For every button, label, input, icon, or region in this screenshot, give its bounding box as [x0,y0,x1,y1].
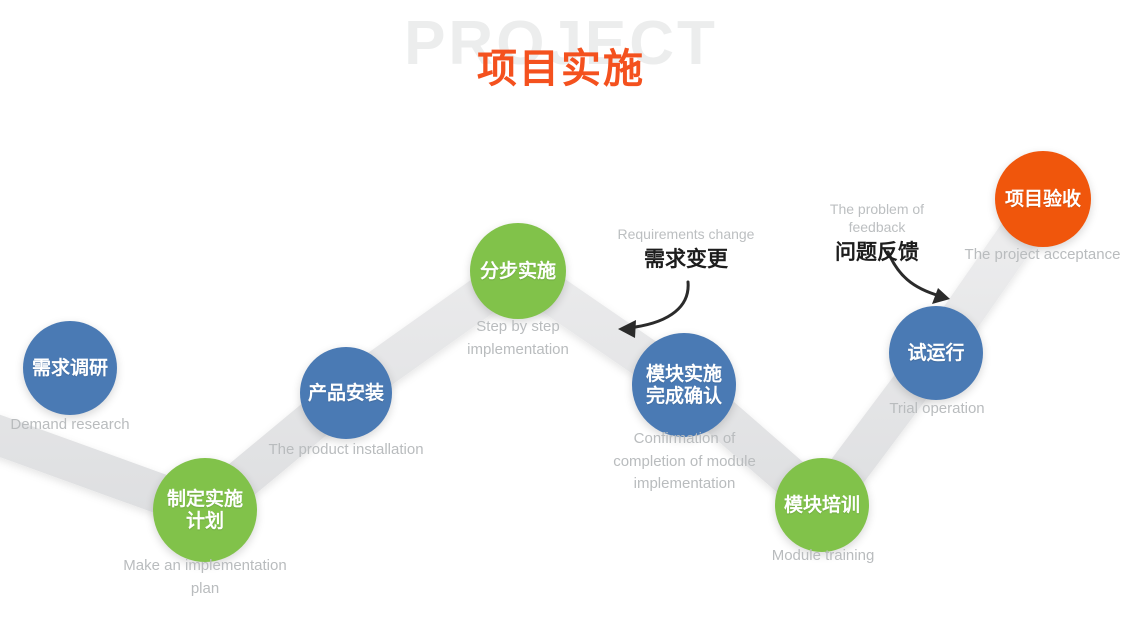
node-label-product-installation: 产品安装 [304,382,388,404]
node-caption-step-by-step: Step by step implementation [453,316,583,361]
node-label-module-completion-confirm: 模块实施 完成确认 [642,363,726,408]
annotation-requirements-change: Requirements change需求变更 [600,225,772,272]
node-implementation-plan[interactable]: 制定实施 计划 [153,458,257,562]
node-label-trial-operation: 试运行 [903,342,968,364]
annotation-en-requirements-change: Requirements change [600,225,772,243]
node-label-module-training: 模块培训 [780,494,864,516]
node-caption-project-acceptance: The project acceptance [955,244,1122,267]
annotation-en-problem-feedback: The problem of feedback [802,200,952,236]
arrow-requirements-change [628,282,688,328]
node-label-demand-research: 需求调研 [28,357,112,379]
node-label-project-acceptance: 项目验收 [1001,188,1085,210]
node-project-acceptance[interactable]: 项目验收 [995,151,1091,247]
node-caption-demand-research: Demand research [0,414,140,437]
node-label-step-by-step: 分步实施 [476,260,560,282]
node-step-by-step[interactable]: 分步实施 [470,223,566,319]
node-product-installation[interactable]: 产品安装 [300,347,392,439]
node-caption-implementation-plan: Make an implementation plan [95,555,315,600]
arrow-problem-feedback-head [932,288,950,304]
node-caption-trial-operation: Trial operation [866,398,1008,421]
node-label-implementation-plan: 制定实施 计划 [163,488,247,533]
node-demand-research[interactable]: 需求调研 [23,321,117,415]
annotation-cn-requirements-change: 需求变更 [600,246,772,272]
annotation-cn-problem-feedback: 问题反馈 [802,239,952,265]
annotation-problem-feedback: The problem of feedback问题反馈 [802,200,952,266]
slide-canvas: PROJECT 项目实施 需求调研Demand research制定实施 计划M… [0,0,1122,617]
node-caption-module-completion-confirm: Confirmation of completion of module imp… [592,428,777,496]
node-caption-module-training: Module training [752,545,894,568]
node-module-training[interactable]: 模块培训 [775,458,869,552]
arrow-requirements-change-head [618,320,636,338]
node-trial-operation[interactable]: 试运行 [889,306,983,400]
node-module-completion-confirm[interactable]: 模块实施 完成确认 [632,333,736,437]
node-caption-product-installation: The product installation [266,439,426,462]
